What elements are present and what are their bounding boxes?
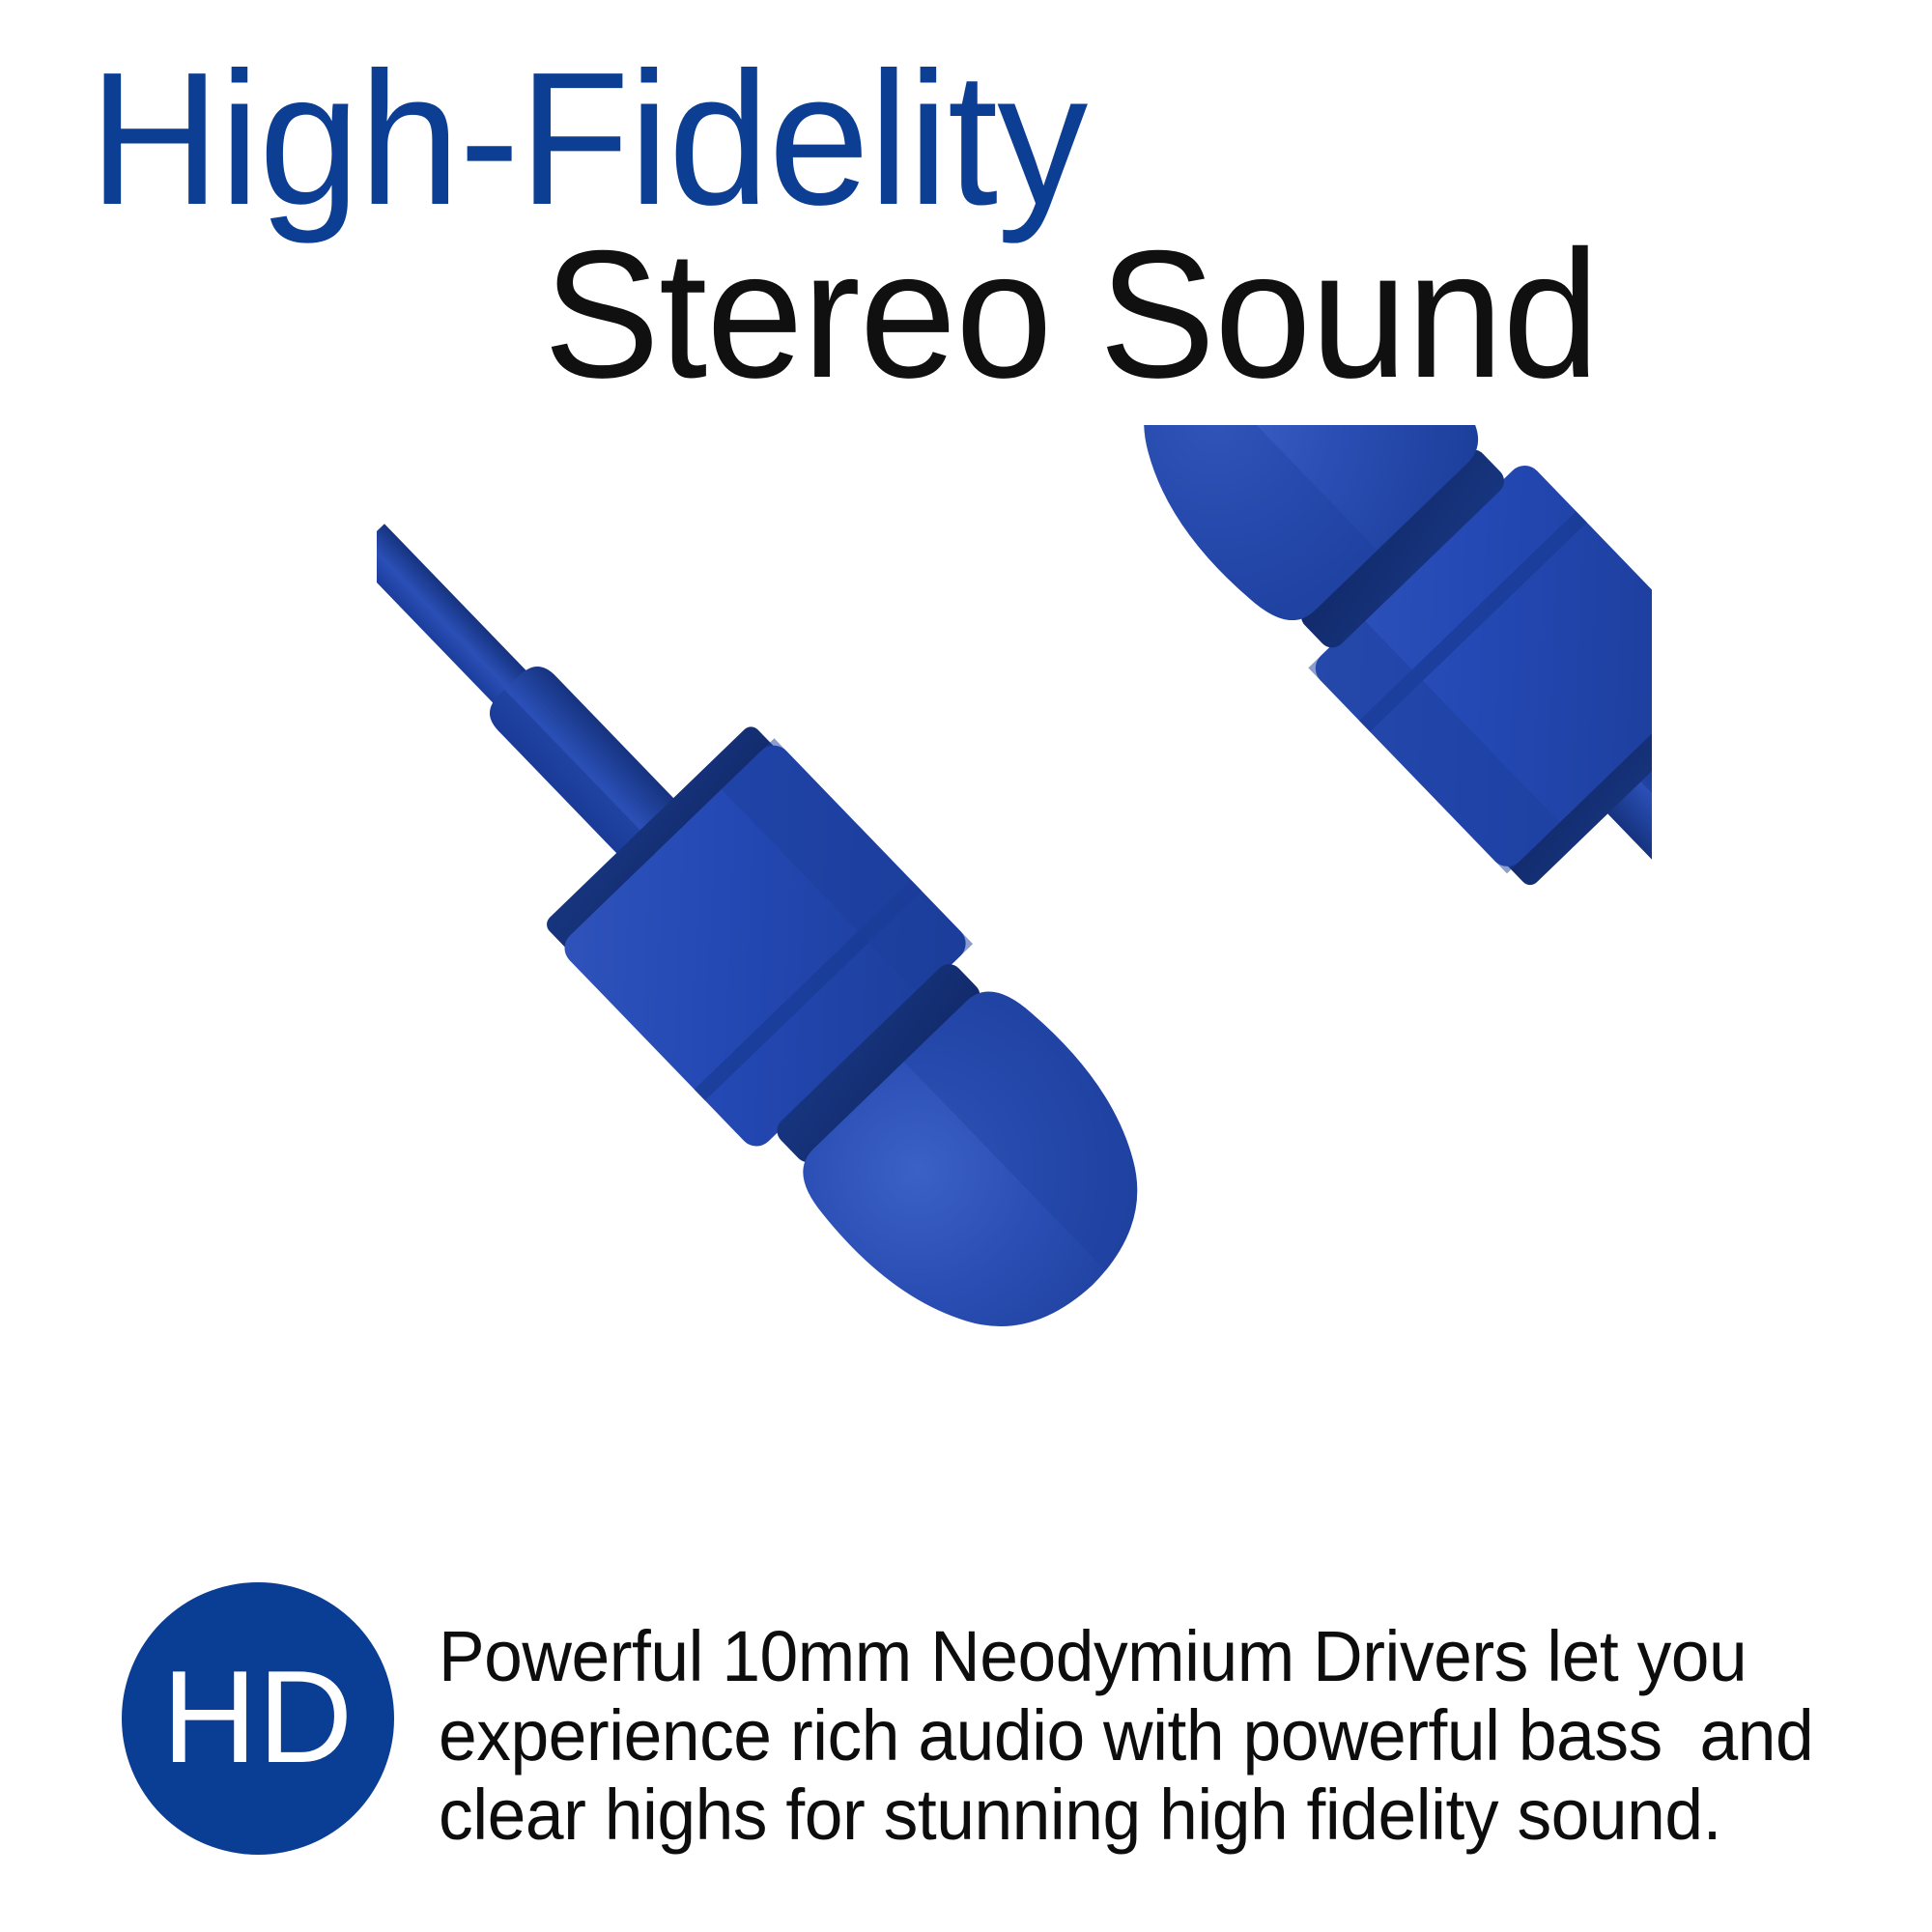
- hd-badge-label: HD: [162, 1651, 354, 1782]
- earbuds-illustration: [377, 425, 1652, 1565]
- product-feature-poster: High-Fidelity Stereo Sound: [0, 0, 1932, 1932]
- headline-secondary: Stereo Sound: [71, 224, 1758, 404]
- earbud-left: [377, 433, 1201, 1390]
- feature-description-line-2: experience rich audio with powerful bass…: [439, 1696, 1813, 1776]
- hd-badge-circle: HD: [122, 1582, 394, 1855]
- headline-primary: High-Fidelity: [0, 54, 1688, 224]
- feature-description-line-1: Powerful 10mm Neodymium Drivers let you: [439, 1617, 1813, 1696]
- earbud-right: [1080, 425, 1652, 1179]
- headline-block: High-Fidelity Stereo Sound: [0, 54, 1758, 404]
- feature-description-line-3: clear highs for stunning high fidelity s…: [439, 1776, 1813, 1855]
- feature-row: HD Powerful 10mm Neodymium Drivers let y…: [122, 1582, 1861, 1855]
- earbuds-illustration-svg: [377, 425, 1652, 1565]
- feature-description: Powerful 10mm Neodymium Drivers let you …: [439, 1582, 1863, 1855]
